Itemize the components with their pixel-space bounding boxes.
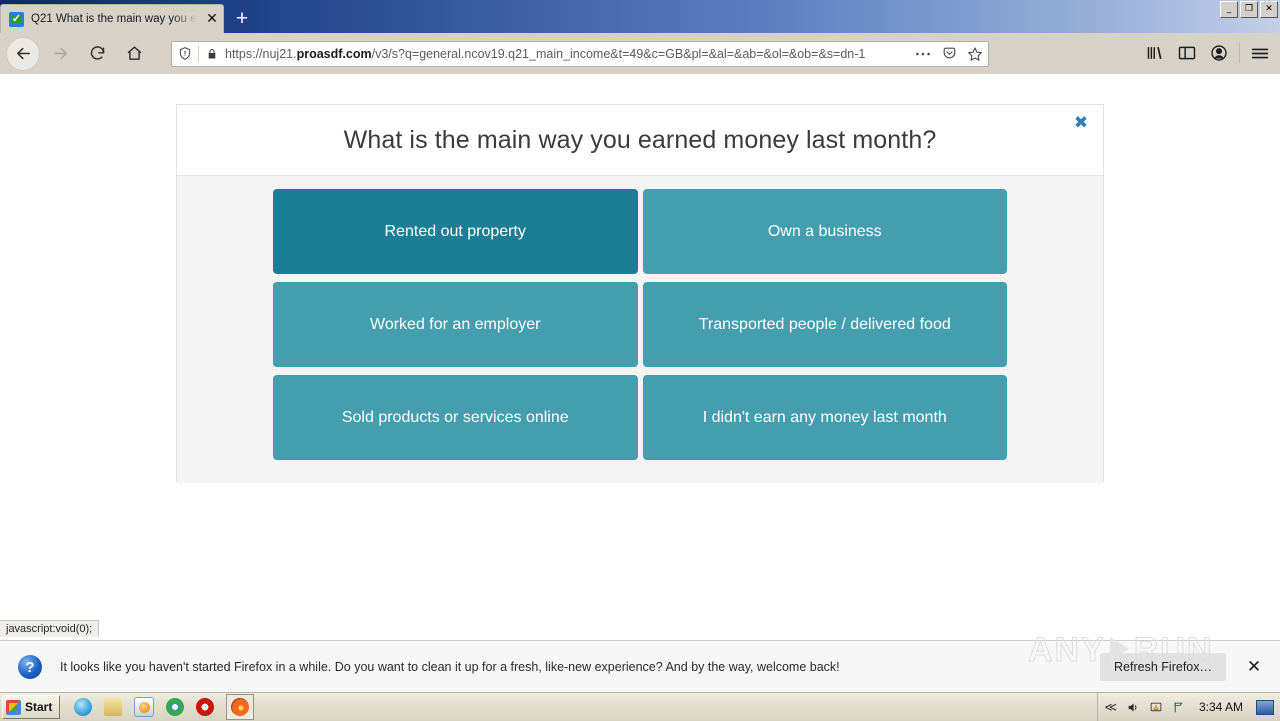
internet-explorer-icon[interactable] bbox=[74, 698, 92, 716]
toolbar-divider bbox=[1239, 43, 1240, 63]
windows-logo-icon bbox=[6, 700, 21, 715]
ellipsis-icon[interactable] bbox=[910, 51, 936, 57]
question-mark-icon: ? bbox=[18, 655, 42, 679]
chrome-icon[interactable] bbox=[166, 698, 184, 716]
toolbar-right-group bbox=[1139, 36, 1276, 70]
restore-button[interactable]: ❐ bbox=[1240, 1, 1258, 18]
answer-option-transported-people-delivered-food[interactable]: Transported people / delivered food bbox=[643, 282, 1008, 367]
refresh-firefox-button[interactable]: Refresh Firefox… bbox=[1100, 653, 1226, 681]
new-tab-button[interactable]: + bbox=[228, 4, 256, 32]
tab-title: Q21 What is the main way you ea bbox=[31, 13, 197, 25]
answer-label: Rented out property bbox=[385, 223, 526, 241]
library-icon[interactable] bbox=[1139, 36, 1171, 70]
reload-button[interactable] bbox=[80, 37, 114, 71]
bookmark-star-icon[interactable] bbox=[962, 46, 988, 62]
browser-tab[interactable]: ✓ Q21 What is the main way you ea ✕ bbox=[0, 4, 224, 33]
close-icon[interactable]: ✖ bbox=[1071, 113, 1091, 133]
show-desktop-icon[interactable] bbox=[1256, 700, 1274, 715]
volume-icon[interactable] bbox=[1126, 701, 1140, 714]
answer-label: I didn't earn any money last month bbox=[703, 409, 947, 427]
forward-button bbox=[43, 37, 77, 71]
shield-icon[interactable] bbox=[172, 46, 198, 61]
answer-option-sold-products-or-services-online[interactable]: Sold products or services online bbox=[273, 375, 638, 460]
answer-label: Own a business bbox=[768, 223, 882, 241]
start-button[interactable]: Start bbox=[2, 695, 60, 719]
survey-card-header: What is the main way you earned money la… bbox=[177, 105, 1103, 176]
answer-options-grid: Rented out property Own a business Worke… bbox=[273, 189, 1007, 460]
hamburger-menu-icon[interactable] bbox=[1244, 36, 1276, 70]
answer-label: Worked for an employer bbox=[370, 316, 540, 334]
clock[interactable]: 3:34 AM bbox=[1199, 700, 1243, 714]
notification-message: It looks like you haven't started Firefo… bbox=[60, 660, 1100, 674]
minimize-button[interactable]: _ bbox=[1220, 1, 1238, 18]
sidebar-icon[interactable] bbox=[1171, 36, 1203, 70]
home-button[interactable] bbox=[117, 37, 151, 71]
answer-option-own-a-business[interactable]: Own a business bbox=[643, 189, 1008, 274]
padlock-icon[interactable] bbox=[199, 47, 225, 61]
answer-label: Sold products or services online bbox=[342, 409, 569, 427]
answer-option-worked-for-an-employer[interactable]: Worked for an employer bbox=[273, 282, 638, 367]
survey-card-body: Rented out property Own a business Worke… bbox=[177, 176, 1103, 483]
firefox-taskbar-button[interactable] bbox=[226, 694, 254, 720]
windows-taskbar: Start ≪ 3:34 AM bbox=[0, 692, 1280, 721]
back-button[interactable] bbox=[6, 37, 40, 71]
window-controls: _ ❐ ✕ bbox=[1220, 1, 1278, 18]
security-alert-icon[interactable] bbox=[1149, 701, 1163, 714]
start-button-label: Start bbox=[25, 700, 52, 714]
account-icon[interactable] bbox=[1203, 36, 1235, 70]
checkmark-icon: ✓ bbox=[9, 12, 24, 27]
firefox-icon bbox=[231, 698, 249, 716]
answer-label: Transported people / delivered food bbox=[699, 316, 951, 334]
window-titlebar: ✓ Q21 What is the main way you ea ✕ + _ … bbox=[0, 0, 1280, 33]
tab-close-icon[interactable]: ✕ bbox=[201, 7, 223, 32]
refresh-firefox-notification-bar: ? It looks like you haven't started Fire… bbox=[0, 640, 1280, 693]
system-tray: ≪ 3:34 AM bbox=[1097, 693, 1280, 721]
navigation-toolbar: https://nuj21.proasdf.com/v3/s?q=general… bbox=[0, 33, 1280, 75]
notification-close-icon[interactable]: ✕ bbox=[1240, 653, 1268, 681]
link-status-tooltip: javascript:void(0); bbox=[0, 620, 99, 637]
page-content: What is the main way you earned money la… bbox=[0, 74, 1280, 640]
opera-icon[interactable] bbox=[196, 698, 214, 716]
survey-card: What is the main way you earned money la… bbox=[176, 104, 1104, 482]
media-player-icon[interactable] bbox=[134, 697, 154, 717]
show-hidden-icons-icon[interactable]: ≪ bbox=[1104, 701, 1117, 713]
url-bar[interactable]: https://nuj21.proasdf.com/v3/s?q=general… bbox=[171, 41, 989, 67]
url-text[interactable]: https://nuj21.proasdf.com/v3/s?q=general… bbox=[225, 47, 910, 61]
answer-option-didnt-earn-any-money[interactable]: I didn't earn any money last month bbox=[643, 375, 1008, 460]
file-explorer-icon[interactable] bbox=[104, 698, 122, 716]
answer-option-rented-out-property[interactable]: Rented out property bbox=[273, 189, 638, 274]
network-icon[interactable] bbox=[1172, 701, 1186, 714]
pocket-save-icon[interactable] bbox=[936, 46, 962, 61]
page-title: What is the main way you earned money la… bbox=[344, 126, 937, 155]
close-button[interactable]: ✕ bbox=[1260, 1, 1278, 18]
quick-launch-bar bbox=[74, 694, 254, 720]
